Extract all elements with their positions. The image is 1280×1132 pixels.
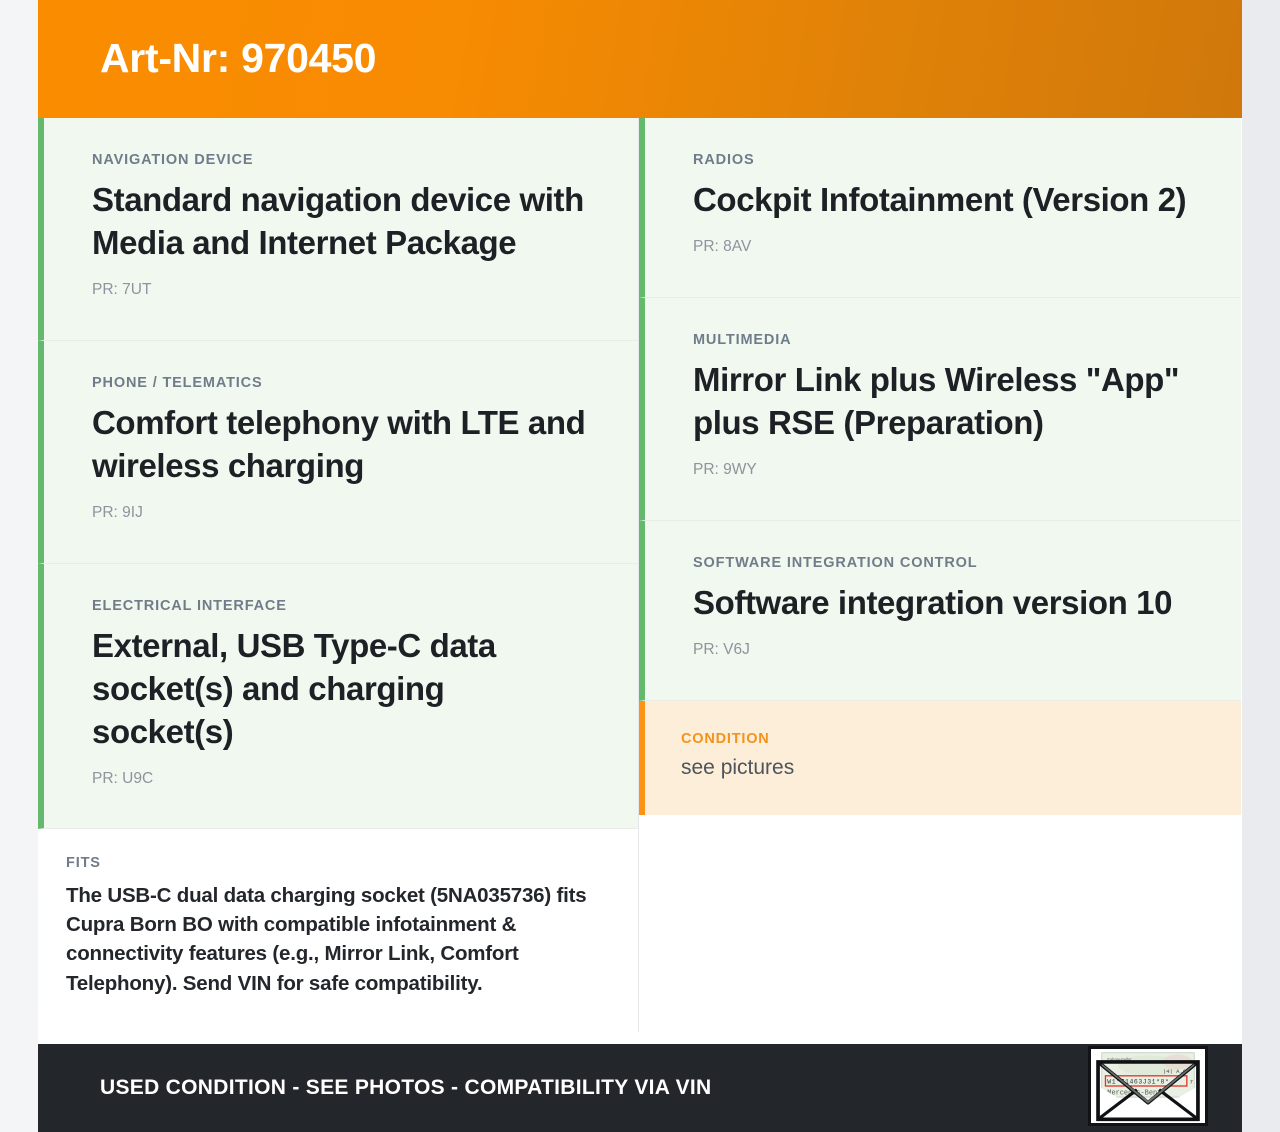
spec-column-left: NAVIGATION DEVICE Standard navigation de…	[38, 118, 639, 1032]
spec-card-label: RADIOS	[693, 152, 1197, 169]
spec-columns: NAVIGATION DEVICE Standard navigation de…	[38, 118, 1242, 1032]
spec-card-pr-code: PR: 9WY	[693, 461, 1197, 480]
spec-card-phone-telematics: PHONE / TELEMATICS Comfort telephony wit…	[38, 341, 638, 564]
spec-card-pr-code: PR: V6J	[693, 641, 1197, 660]
condition-card: CONDITION see pictures	[639, 701, 1241, 816]
spec-card-pr-code: PR: U9C	[92, 770, 594, 789]
footer-text: USED CONDITION - SEE PHOTOS - COMPATIBIL…	[100, 1076, 712, 1100]
spec-card-title: Comfort telephony with LTE and wireless …	[92, 402, 594, 488]
listing-sheet: Art-Nr: 970450 NAVIGATION DEVICE Standar…	[38, 0, 1242, 1132]
spec-card-title: Mirror Link plus Wireless "App" plus RSE…	[693, 359, 1197, 445]
spec-card-title: Standard navigation device with Media an…	[92, 179, 594, 265]
spec-card-label: SOFTWARE INTEGRATION CONTROL	[693, 555, 1197, 572]
fits-text: The USB-C dual data charging socket (5NA…	[66, 881, 598, 997]
spec-card-pr-code: PR: 9IJ	[92, 504, 594, 523]
listing-page: Art-Nr: 970450 NAVIGATION DEVICE Standar…	[0, 0, 1280, 1132]
spec-card-software-integration-control: SOFTWARE INTEGRATION CONTROL Software in…	[639, 521, 1241, 701]
spec-card-radios: RADIOS Cockpit Infotainment (Version 2) …	[639, 118, 1241, 298]
condition-label: CONDITION	[681, 731, 1197, 748]
condition-value: see pictures	[681, 754, 1197, 781]
spec-card-label: MULTIMEDIA	[693, 332, 1197, 349]
right-column-filler	[639, 815, 1241, 977]
spec-card-title: Software integration version 10	[693, 582, 1197, 625]
spec-card-title: Cockpit Infotainment (Version 2)	[693, 179, 1197, 222]
spec-card-title: External, USB Type-C data socket(s) and …	[92, 625, 594, 754]
spec-card-multimedia: MULTIMEDIA Mirror Link plus Wireless "Ap…	[639, 298, 1241, 521]
fits-label: FITS	[66, 855, 598, 871]
spec-card-label: NAVIGATION DEVICE	[92, 152, 594, 169]
spec-card-electrical-interface: ELECTRICAL INTERFACE External, USB Type-…	[38, 564, 638, 830]
spec-card-label: ELECTRICAL INTERFACE	[92, 598, 594, 615]
spec-card-navigation-device: NAVIGATION DEVICE Standard navigation de…	[38, 118, 638, 341]
spec-card-pr-code: PR: 7UT	[92, 281, 594, 300]
envelope-vin-document-icon: Fahrgestellnr. |4| A.6 W1*71463J31*8* 7 …	[1088, 1046, 1208, 1126]
spec-column-right: RADIOS Cockpit Infotainment (Version 2) …	[639, 118, 1241, 977]
footer-banner: USED CONDITION - SEE PHOTOS - COMPATIBIL…	[38, 1044, 1242, 1132]
page-title: Art-Nr: 970450	[100, 37, 376, 80]
spec-card-label: PHONE / TELEMATICS	[92, 375, 594, 392]
fits-section: FITS The USB-C dual data charging socket…	[38, 829, 638, 1031]
spec-card-pr-code: PR: 8AV	[693, 238, 1197, 257]
header-banner: Art-Nr: 970450	[38, 0, 1242, 118]
